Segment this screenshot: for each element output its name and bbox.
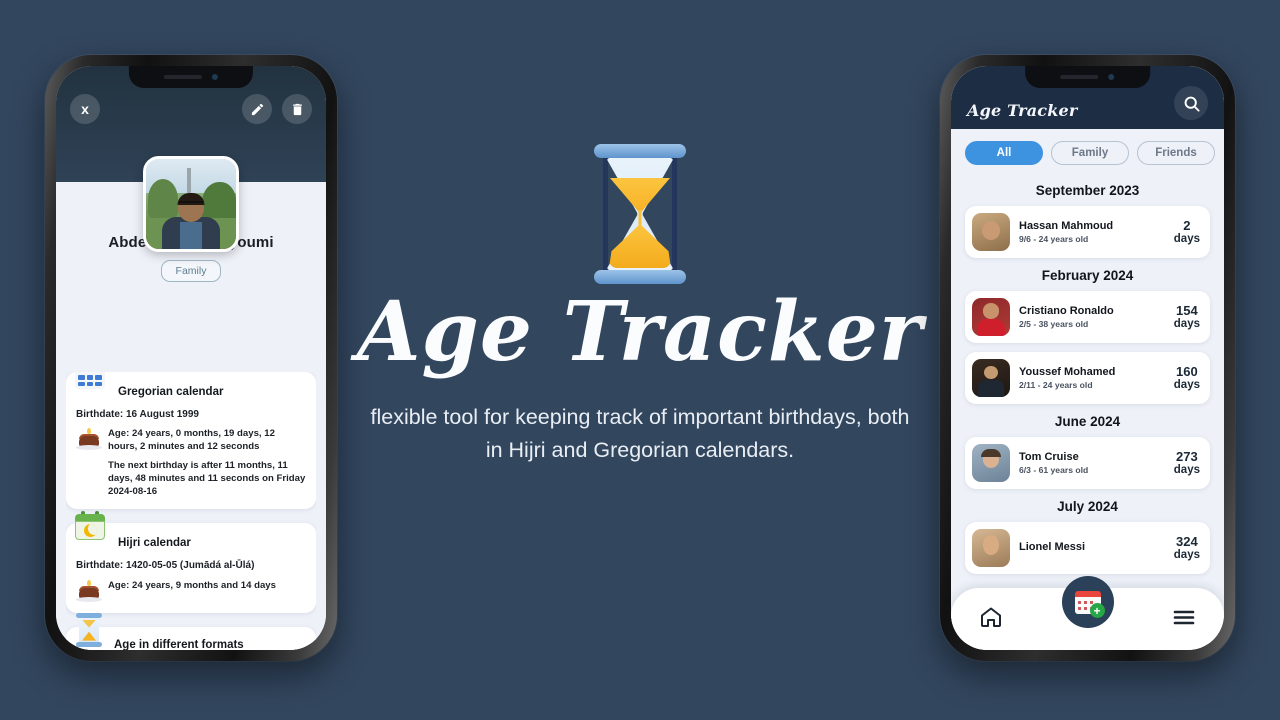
add-birthday-icon: + <box>1075 589 1101 615</box>
list-item[interactable]: Lionel Messi 324 days <box>965 522 1210 574</box>
list-item[interactable]: Cristiano Ronaldo 2/5 - 38 years old 154… <box>965 291 1210 343</box>
bottom-nav: + <box>951 588 1224 650</box>
close-icon: x <box>81 101 89 117</box>
gregorian-next-birthday: The next birthday is after 11 months, 11… <box>76 459 306 498</box>
phone-notch <box>129 66 253 88</box>
list-item[interactable]: Youssef Mohamed 2/11 - 24 years old 160 … <box>965 352 1210 404</box>
days-remaining: 154 days <box>1174 304 1200 330</box>
avatar <box>972 213 1010 251</box>
hijri-birthdate: Birthdate: 1420-05-05 (Jumādá al-Ūlá) <box>76 559 306 572</box>
hijri-calendar-icon <box>74 511 106 543</box>
gregorian-title: Gregorian calendar <box>76 384 306 400</box>
days-number: 154 <box>1174 304 1200 318</box>
list-item-detail: 6/3 - 61 years old <box>1019 465 1165 475</box>
gregorian-birthdate: Birthdate: 16 August 1999 <box>76 408 306 421</box>
month-header: June 2024 <box>965 414 1210 429</box>
center-branding: Age Tracker flexible tool for keeping tr… <box>350 60 930 467</box>
group-chip-row: Family <box>68 260 314 282</box>
days-number: 2 <box>1174 219 1200 233</box>
list-item-name: Youssef Mohamed <box>1019 366 1165 378</box>
list-item-detail: 9/6 - 24 years old <box>1019 234 1165 244</box>
filter-chip-row: All Family Friends <box>951 129 1224 173</box>
search-button[interactable] <box>1174 86 1208 120</box>
gregorian-age-row: Age: 24 years, 0 months, 19 days, 12 hou… <box>76 427 306 453</box>
list-item-name: Hassan Mahmoud <box>1019 220 1165 232</box>
left-phone-screen: x Abdelrahman Bayoumi Family <box>56 66 326 650</box>
list-screen: Age Tracker All Family Friends September… <box>951 66 1224 650</box>
right-phone-screen: Age Tracker All Family Friends September… <box>951 66 1224 650</box>
month-header: February 2024 <box>965 268 1210 283</box>
calendar-icon <box>74 372 106 392</box>
days-remaining: 160 days <box>1174 365 1200 391</box>
days-unit: days <box>1174 549 1200 561</box>
filter-chip-all[interactable]: All <box>965 141 1043 165</box>
delete-button[interactable] <box>282 94 312 124</box>
earpiece-speaker <box>164 75 202 79</box>
hourglass-icon <box>76 613 102 647</box>
gregorian-age: Age: 24 years, 0 months, 19 days, 12 hou… <box>108 427 306 453</box>
days-unit: days <box>1174 318 1200 330</box>
left-phone-mockup: x Abdelrahman Bayoumi Family <box>45 55 337 661</box>
right-phone-mockup: Age Tracker All Family Friends September… <box>940 55 1235 661</box>
trash-icon <box>290 102 305 117</box>
home-button[interactable] <box>979 605 1003 634</box>
tagline: flexible tool for keeping track of impor… <box>370 401 910 466</box>
month-header: September 2023 <box>965 183 1210 198</box>
avatar <box>972 529 1010 567</box>
phone-notch <box>1025 66 1151 88</box>
list-item-detail: 2/11 - 24 years old <box>1019 380 1165 390</box>
home-icon <box>979 605 1003 629</box>
avatar <box>972 298 1010 336</box>
pencil-icon <box>250 102 265 117</box>
birthday-cake-icon <box>76 580 102 602</box>
days-remaining: 324 days <box>1174 535 1200 561</box>
gregorian-calendar-card: Gregorian calendar Birthdate: 16 August … <box>66 372 316 509</box>
avatar <box>143 156 239 252</box>
birthday-cake-icon <box>76 428 102 450</box>
app-header-title: Age Tracker <box>967 101 1078 120</box>
toolbar-spacer <box>100 94 242 124</box>
close-button[interactable]: x <box>70 94 100 124</box>
detail-content: Abdelrahman Bayoumi Family <box>56 182 326 650</box>
filter-chip-family[interactable]: Family <box>1051 141 1129 165</box>
group-chip[interactable]: Family <box>161 260 222 282</box>
app-title: Age Tracker <box>350 290 930 375</box>
age-formats-title: Age in different formats <box>76 639 306 650</box>
days-unit: days <box>1174 233 1200 245</box>
hijri-age-row: Age: 24 years, 9 months and 14 days <box>76 579 306 602</box>
add-birthday-button[interactable]: + <box>1062 576 1114 628</box>
days-remaining: 273 days <box>1174 450 1200 476</box>
days-unit: days <box>1174 464 1200 476</box>
edit-button[interactable] <box>242 94 272 124</box>
days-unit: days <box>1174 379 1200 391</box>
front-camera <box>212 74 218 80</box>
list-item-name: Lionel Messi <box>1019 541 1165 553</box>
days-remaining: 2 days <box>1174 219 1200 245</box>
search-icon <box>1182 94 1201 113</box>
avatar <box>972 359 1010 397</box>
detail-toolbar: x <box>56 94 326 124</box>
hijri-title: Hijri calendar <box>76 535 306 551</box>
promo-banner: x Abdelrahman Bayoumi Family <box>0 0 1280 720</box>
hamburger-menu-icon <box>1172 605 1196 629</box>
list-item-name: Tom Cruise <box>1019 451 1165 463</box>
detail-scroll-area[interactable]: Gregorian calendar Birthdate: 16 August … <box>66 372 316 650</box>
list-item-detail: 2/5 - 38 years old <box>1019 319 1165 329</box>
hijri-age: Age: 24 years, 9 months and 14 days <box>108 579 306 592</box>
menu-button[interactable] <box>1172 605 1196 634</box>
hourglass-icon <box>592 144 688 284</box>
list-item-name: Cristiano Ronaldo <box>1019 305 1165 317</box>
days-number: 273 <box>1174 450 1200 464</box>
month-header: July 2024 <box>965 499 1210 514</box>
list-item[interactable]: Hassan Mahmoud 9/6 - 24 years old 2 days <box>965 206 1210 258</box>
earpiece-speaker <box>1060 75 1098 79</box>
list-item[interactable]: Tom Cruise 6/3 - 61 years old 273 days <box>965 437 1210 489</box>
age-formats-card: Age in different formats <box>66 627 316 650</box>
days-number: 160 <box>1174 365 1200 379</box>
avatar <box>972 444 1010 482</box>
hijri-calendar-card: Hijri calendar Birthdate: 1420-05-05 (Ju… <box>66 523 316 612</box>
front-camera <box>1108 74 1114 80</box>
days-number: 324 <box>1174 535 1200 549</box>
filter-chip-friends[interactable]: Friends <box>1137 141 1215 165</box>
